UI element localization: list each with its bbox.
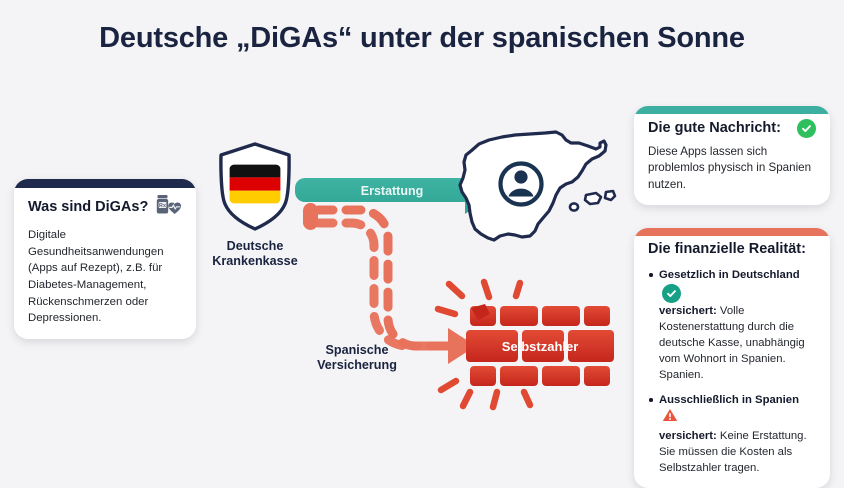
check-circle-icon (662, 284, 681, 303)
card-what-are-digas: Was sind DiGAs? Rx Digitale Gesundheitsa… (14, 179, 196, 339)
reimbursement-arrow-label: Erstattung (361, 184, 424, 198)
check-circle-icon (797, 119, 816, 138)
bullet-1-lead-bold: Gesetzlich in Deutschland (659, 269, 800, 281)
german-insurer-label: Deutsche Krankenkasse (203, 239, 307, 270)
card-good-news: Die gute Nachricht: Diese Apps lassen si… (634, 106, 830, 205)
german-insurer-label-line2: Krankenkasse (212, 254, 297, 268)
bullet-2-lead-bold: Ausschließlich in Spanien (659, 394, 799, 406)
list-item: Gesetzlich in Deutschland versichert: Vo… (648, 267, 816, 383)
german-insurer-group: Deutsche Krankenkasse (203, 139, 307, 270)
spanish-insurance-label-line2: Versicherung (317, 358, 397, 372)
card-good-news-title: Die gute Nachricht: (648, 120, 781, 137)
wall-label: Selbstzahler (502, 339, 579, 354)
list-item: Ausschließlich in Spanien versichert: Ke… (648, 392, 816, 476)
card-what-are-digas-title-row: Was sind DiGAs? Rx (28, 194, 182, 220)
card-financial-reality: Die finanzielle Realität: Gesetzlich in … (634, 228, 830, 488)
financial-reality-bullet-list: Gesetzlich in Deutschland versichert: Vo… (648, 267, 816, 476)
prescription-bottle-heart-icon: Rx (156, 194, 182, 220)
card-good-news-text: Diese Apps lassen sich problemlos physis… (648, 144, 816, 193)
warning-triangle-icon (662, 408, 678, 427)
bullet-1-lead-rest: versichert: (659, 305, 717, 317)
card-financial-reality-title: Die finanzielle Realität: (648, 241, 816, 258)
card-good-news-title-row: Die gute Nachricht: (648, 119, 816, 138)
person-avatar-icon (501, 164, 542, 205)
spanish-insurance-label: Spanische Versicherung (296, 343, 418, 374)
bullet-2-lead-rest: versichert: (659, 430, 717, 442)
card-what-are-digas-title: Was sind DiGAs? (28, 199, 148, 216)
infographic-canvas: Deutsche „DiGAs“ unter der spanischen So… (0, 0, 844, 459)
svg-text:Rx: Rx (159, 203, 166, 209)
spanish-insurance-label-line1: Spanische (326, 343, 389, 357)
german-insurer-label-line1: Deutsche (227, 239, 284, 253)
card-what-are-digas-text: Digitale Gesundheitsanwendungen (Apps au… (28, 227, 182, 326)
